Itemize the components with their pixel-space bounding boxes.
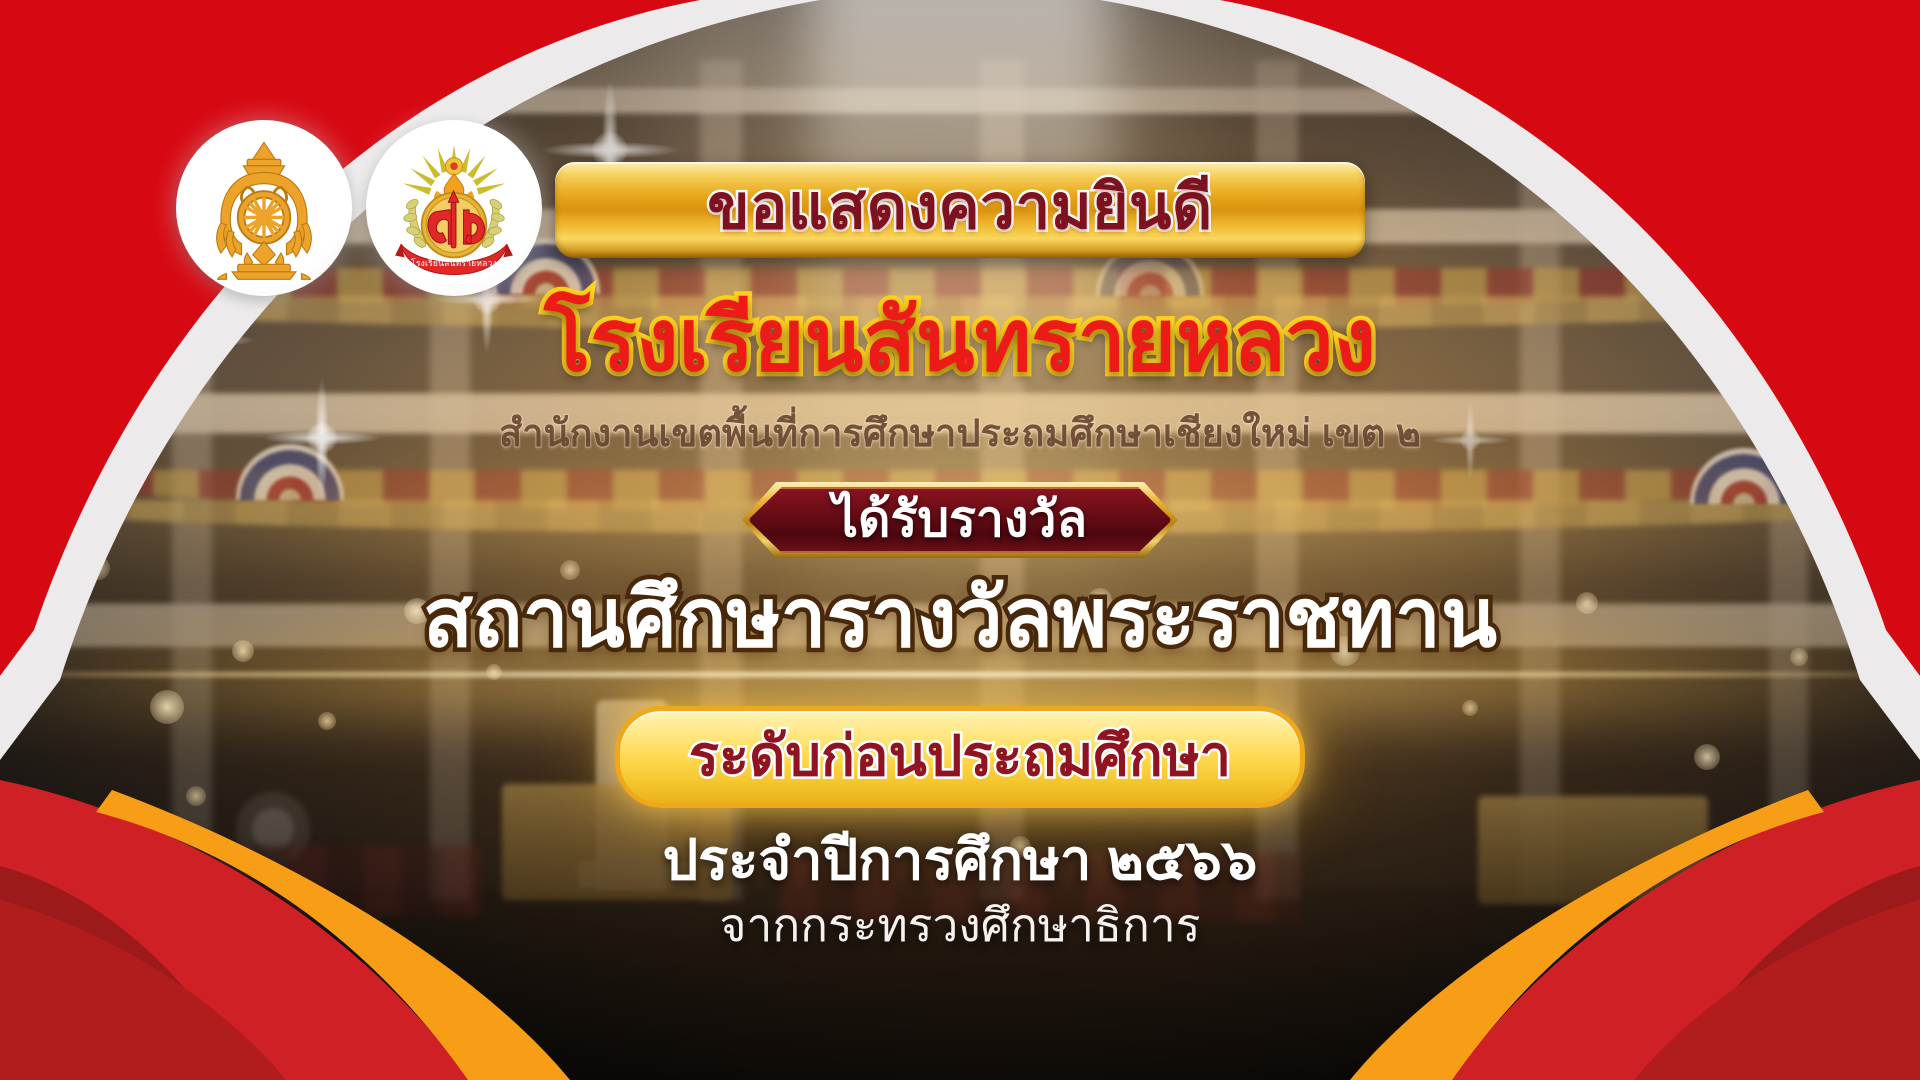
- education-office-text: สำนักงานเขตพื้นที่การศึกษาประถมศึกษาเชีย…: [0, 415, 1920, 453]
- award-level-text: ระดับก่อนประถมศึกษา: [689, 728, 1231, 784]
- award-level-pill: ระดับก่อนประถมศึกษา: [615, 706, 1305, 808]
- ministry-of-education-emblem: [217, 142, 312, 279]
- academic-year-text: ประจำปีการศึกษา ๒๕๖๖: [0, 832, 1920, 888]
- award-ribbon-body: ได้รับรางวัล: [748, 487, 1172, 553]
- logo-ministry-of-education: [176, 120, 352, 296]
- award-ribbon: ได้รับรางวัล: [742, 482, 1178, 558]
- headline-gold-pill: ขอแสดงความยินดี: [555, 162, 1365, 258]
- congratulations-banner: โรงเรียนสันทรายหลวง ขอแสดงความยินดี โรงเ…: [0, 0, 1920, 1080]
- headline-text: ขอแสดงความยินดี: [707, 177, 1212, 239]
- golden-streak: [0, 672, 1920, 677]
- granted-by-text: จากกระทรวงศึกษาธิการ: [0, 902, 1920, 948]
- school-name-text: โรงเรียนสันทรายหลวง: [0, 298, 1920, 384]
- school-emblem: โรงเรียนสันทรายหลวง: [395, 145, 513, 274]
- logo-school-santhrailuang: โรงเรียนสันทรายหลวง: [366, 120, 542, 296]
- award-ribbon-label: ได้รับรางวัล: [833, 494, 1087, 544]
- award-title-text: สถานศึกษารางวัลพระราชทาน: [0, 578, 1920, 660]
- logo-group: โรงเรียนสันทรายหลวง: [176, 120, 542, 296]
- emblem-ribbon-text: โรงเรียนสันทรายหลวง: [411, 258, 497, 268]
